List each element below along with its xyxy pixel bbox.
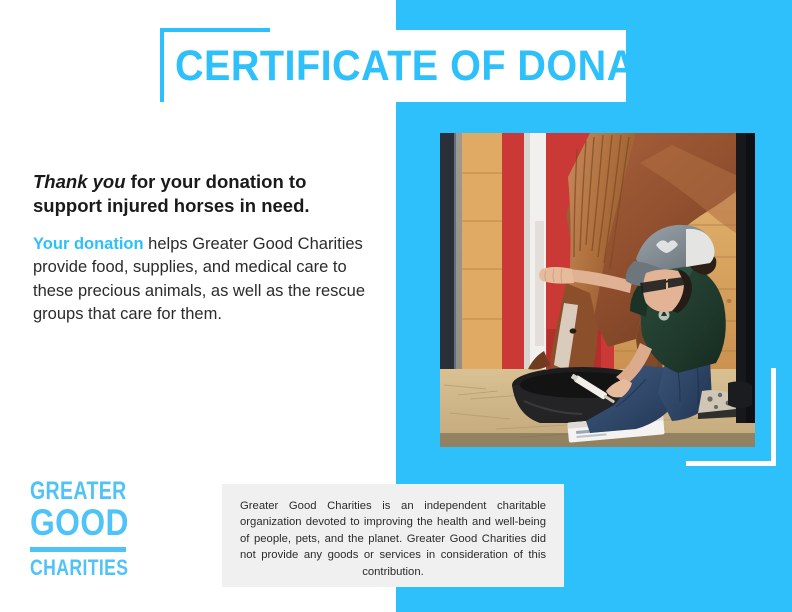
photo-bracket-decoration [686,368,776,466]
logo-line-good: GOOD [30,505,123,541]
page-title: CERTIFICATE OF DONATION [175,33,589,99]
headline-emphasis: Thank you [33,171,126,192]
greater-good-charities-logo: GREATER GOOD CHARITIES [30,479,138,578]
headline: Thank you for your donation to support i… [33,170,378,217]
logo-line-charities: CHARITIES [30,557,116,578]
body-copy: Your donation helps Greater Good Chariti… [33,233,383,327]
logo-line-greater: GREATER [30,479,114,503]
logo-divider-bar [30,547,126,552]
disclaimer-box: Greater Good Charities is an independent… [222,484,564,587]
disclaimer-text: Greater Good Charities is an independent… [240,498,546,580]
body-accent-phrase: Your donation [33,235,144,253]
